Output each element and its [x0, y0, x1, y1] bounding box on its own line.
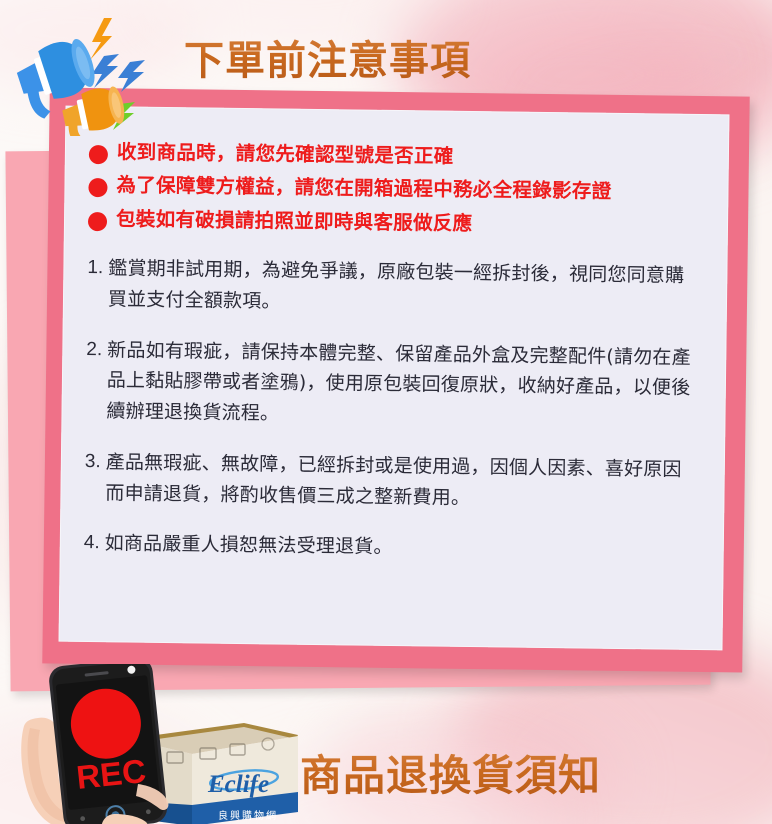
rec-label: REC	[75, 752, 148, 796]
bullet-label: 收到商品時，請您先確認型號是否正確	[117, 140, 454, 169]
bullet-item: 收到商品時，請您先確認型號是否正確	[89, 140, 703, 172]
list-item-text: 如商品嚴重人損恕無法受理退貨。	[104, 529, 392, 564]
list-item-index: 2.	[86, 335, 102, 366]
list-item-index: 4.	[84, 528, 100, 559]
numbered-list: 1. 鑑賞期非試用期，為避免爭議，原廠包裝一經拆封後，視同您同意購買並支付全額款…	[84, 253, 702, 567]
bullet-list: 收到商品時，請您先確認型號是否正確 為了保障雙方權益，請您在開箱過程中務必全程錄…	[88, 140, 703, 239]
bullet-dot-icon	[88, 212, 107, 231]
list-item-index: 3.	[85, 447, 101, 478]
list-item: 1. 鑑賞期非試用期，為避免爭議，原廠包裝一經拆封後，視同您同意購買並支付全額款…	[87, 253, 702, 323]
bullet-label: 為了保障雙方權益，請您在開箱過程中務必全程錄影存證	[116, 174, 611, 205]
list-item-text: 新品如有瑕疵，請保持本體完整、保留產品外盒及完整配件(請勿在產品上黏貼膠帶或者塗…	[106, 335, 700, 435]
notice-content: 收到商品時，請您先確認型號是否正確 為了保障雙方權益，請您在開箱過程中務必全程錄…	[59, 106, 730, 651]
megaphone-icon-svg	[0, 8, 180, 136]
bullet-dot-icon	[89, 145, 108, 164]
megaphone-icon	[0, 8, 180, 136]
box-brand-text: Eclife	[207, 771, 269, 798]
bullet-item: 包裝如有破損請拍照並即時與客服做反應	[88, 207, 702, 239]
phone-svg: REC	[18, 664, 193, 824]
page-title: 下單前注意事項	[184, 28, 471, 86]
list-item: 3. 產品無瑕疵、無故障，已經拆封或是使用過，因個人因素、喜好原因而申請退貨，將…	[84, 447, 699, 517]
list-item-text: 產品無瑕疵、無故障，已經拆封或是使用過，因個人因素、喜好原因而申請退貨，將酌收售…	[105, 447, 699, 516]
box-subtitle-text: 良興購物網	[218, 809, 278, 822]
list-item-index: 1.	[87, 253, 103, 284]
poster-canvas: 下單前注意事項	[0, 0, 772, 824]
list-item-text: 鑑賞期非試用期，為避免爭議，原廠包裝一經拆封後，視同您同意購買並支付全額款項。	[108, 253, 702, 322]
bullet-label: 包裝如有破損請拍照並即時與客服做反應	[116, 207, 473, 236]
bullet-item: 為了保障雙方權益，請您在開箱過程中務必全程錄影存證	[88, 173, 702, 205]
footer-title: 商品退換貨須知	[300, 742, 601, 803]
list-item: 4. 如商品嚴重人損恕無法受理退貨。	[84, 528, 698, 567]
hand-holding-phone-illustration: REC	[18, 664, 193, 824]
bullet-dot-icon	[88, 178, 107, 197]
list-item: 2. 新品如有瑕疵，請保持本體完整、保留產品外盒及完整配件(請勿在產品上黏貼膠帶…	[85, 335, 700, 435]
